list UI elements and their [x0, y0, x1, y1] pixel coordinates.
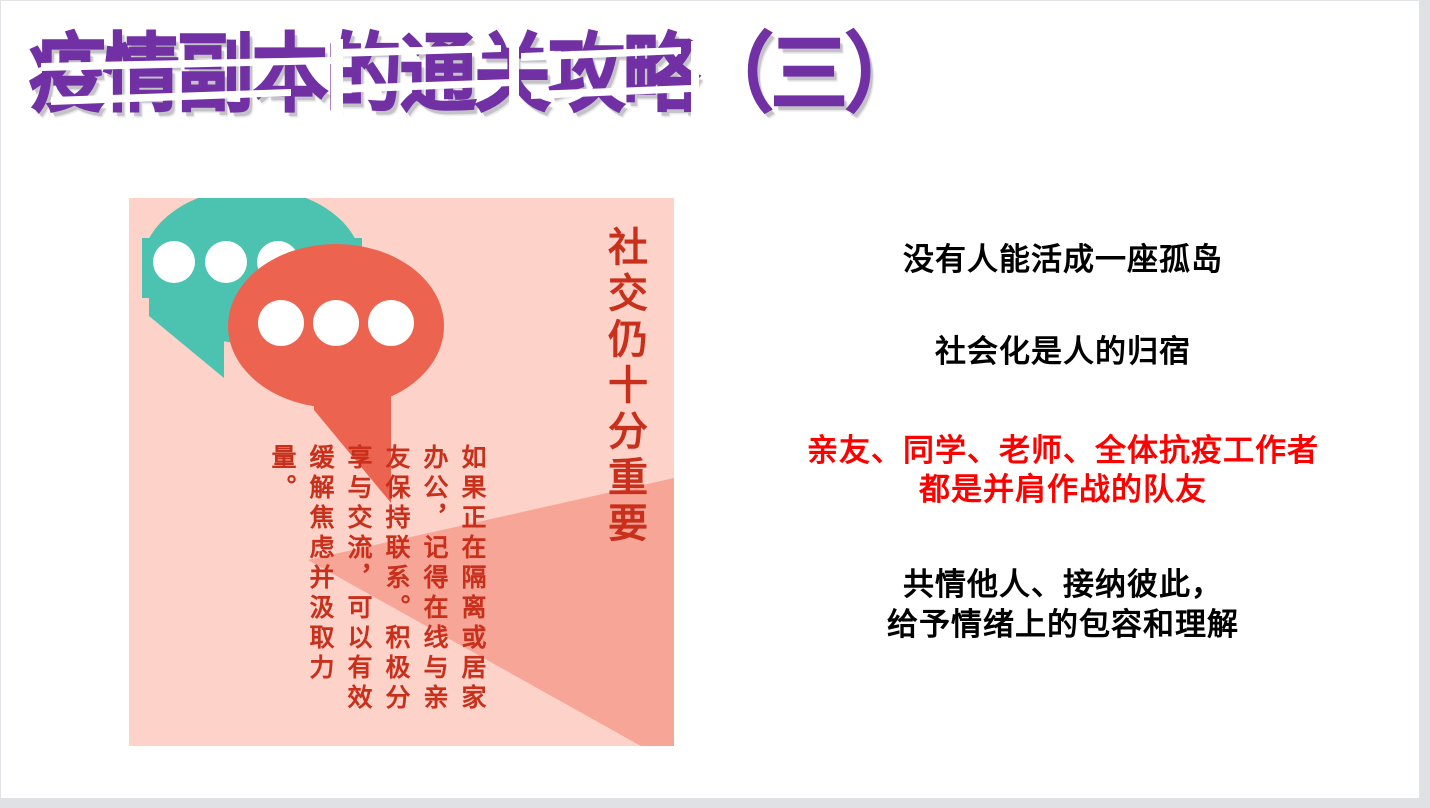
- highlight-line-2: 都是并肩作战的队友: [743, 471, 1383, 510]
- spacer-2: [743, 372, 1383, 432]
- message-line-3: 共情他人、接纳彼此，: [743, 566, 1383, 606]
- spacer-3: [743, 510, 1383, 566]
- message-line-4: 给予情绪上的包容和理解: [743, 606, 1383, 646]
- social-illustration: 社交仍十分重要 如果正在隔离或居家办公，记得在线与亲友保持联系。积极分享与交流，…: [129, 198, 674, 746]
- message-line-2: 社会化是人的归宿: [743, 333, 1383, 373]
- page-title: 疫情副本的通关攻略（三）: [29, 19, 929, 129]
- illustration-body-text: 如果正在隔离或居家办公，记得在线与亲友保持联系。积极分享与交流，可以有效缓解焦虑…: [171, 444, 491, 729]
- spacer-1: [743, 281, 1383, 333]
- message-block: 没有人能活成一座孤岛 社会化是人的归宿 亲友、同学、老师、全体抗疫工作者 都是并…: [743, 241, 1383, 646]
- highlight-line-1: 亲友、同学、老师、全体抗疫工作者: [743, 432, 1383, 471]
- slide: 疫情副本的通关攻略（三）: [0, 0, 1420, 799]
- message-line-1: 没有人能活成一座孤岛: [743, 241, 1383, 281]
- slide-canvas: 疫情副本的通关攻略（三）: [0, 0, 1430, 808]
- illustration-headline: 社交仍十分重要: [599, 226, 648, 548]
- page-title-text: 疫情副本的通关攻略（三）: [29, 32, 919, 117]
